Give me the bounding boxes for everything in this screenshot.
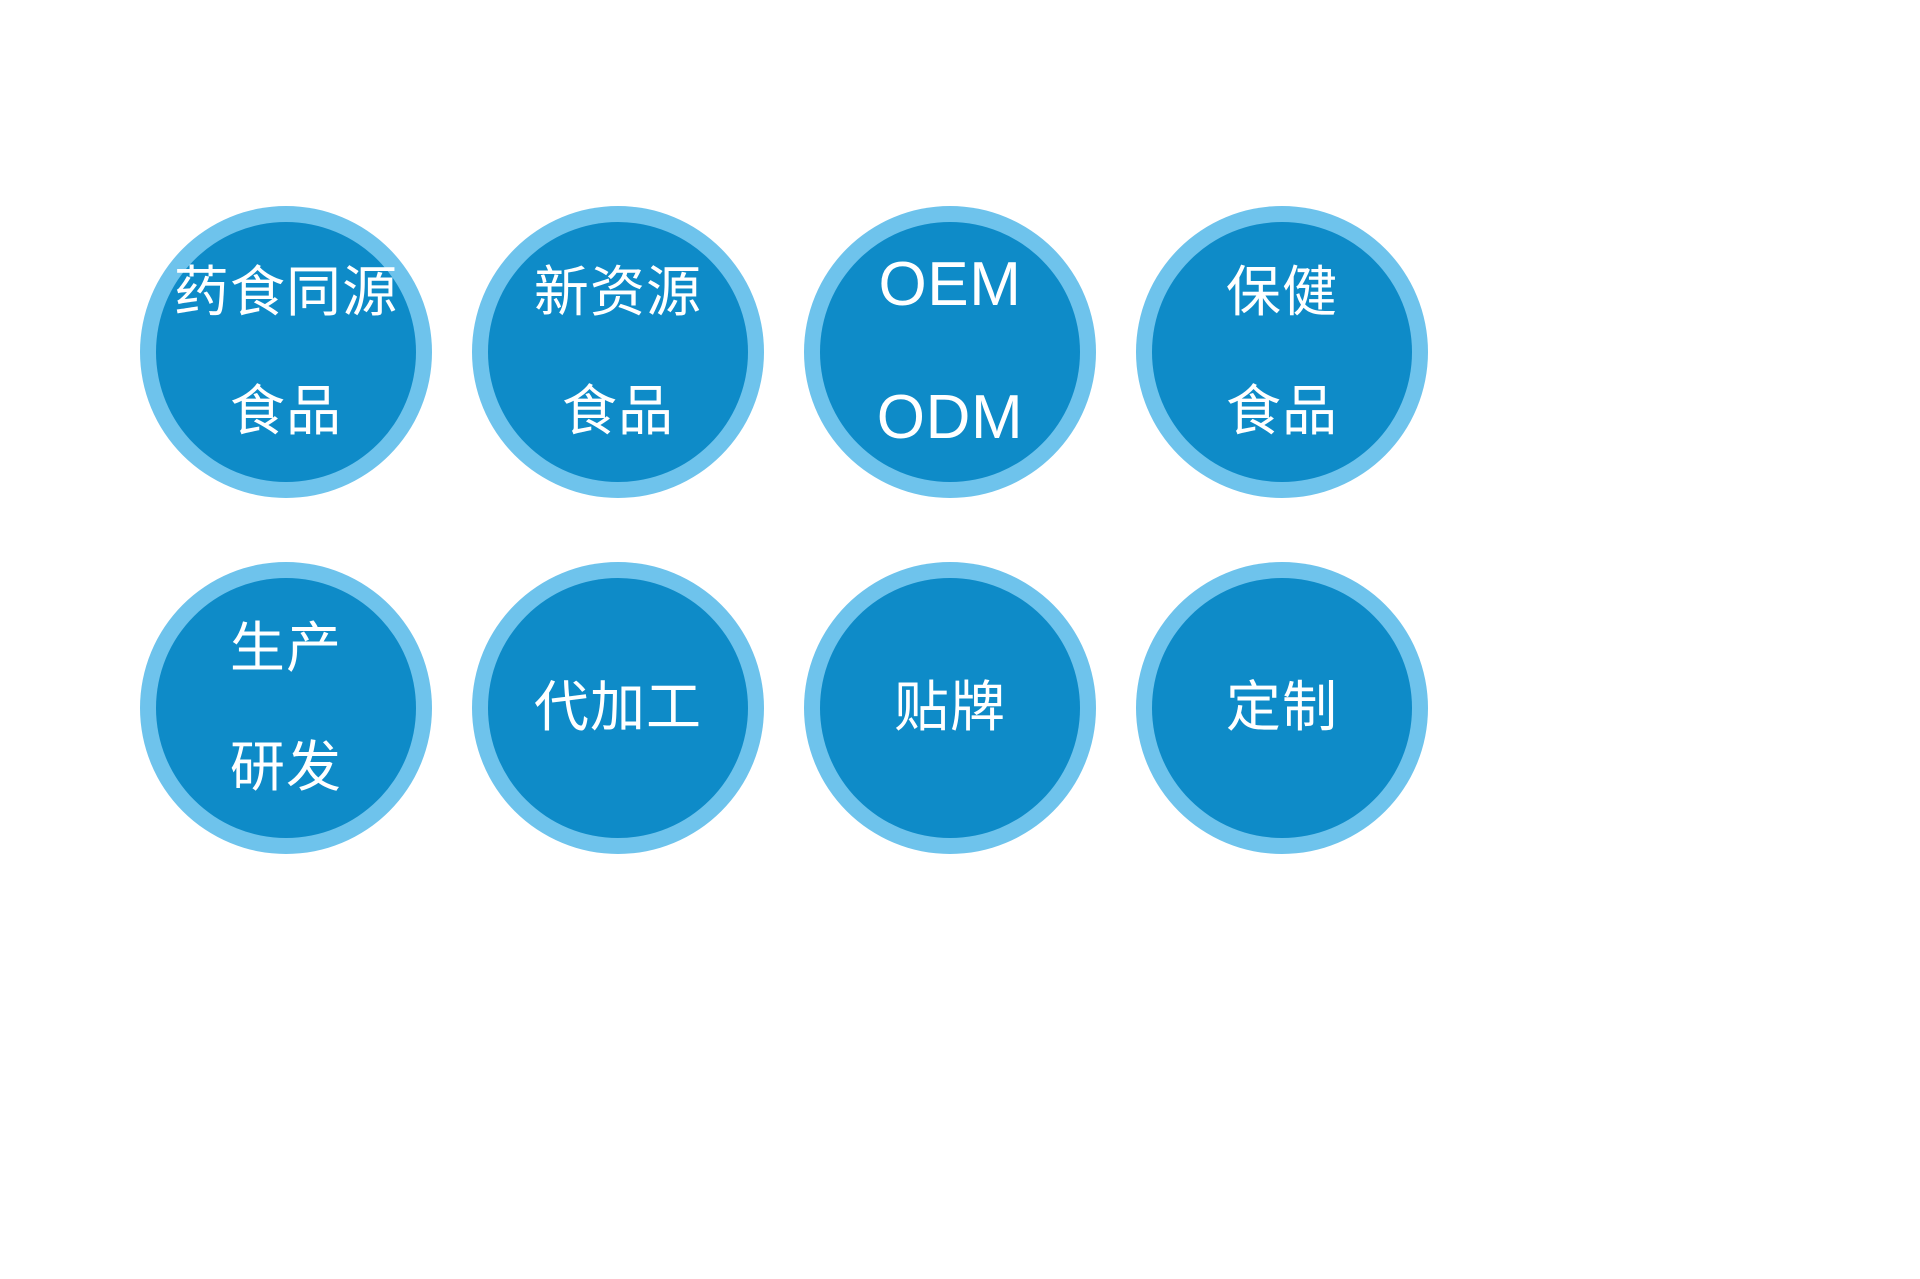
bubble-contract-processing[interactable]: 代加工 (472, 562, 764, 854)
bubble-label: 代加工 (534, 619, 702, 797)
bubble-label-line: 药食同源 (174, 263, 398, 322)
bubble-label: 定制 (1226, 619, 1338, 797)
bubble-health-food[interactable]: 保健 食品 (1136, 206, 1428, 498)
bubble-label: 保健 食品 (1226, 204, 1338, 501)
bubble-label-line: 贴牌 (894, 678, 1006, 737)
bubble-new-resource-food[interactable]: 新资源 食品 (472, 206, 764, 498)
bubble-production-rnd[interactable]: 生产 研发 (140, 562, 432, 854)
bubble-label-line: 定制 (1226, 678, 1338, 737)
bubble-label: 生产 研发 (230, 560, 342, 857)
bubble-label-line: 食品 (1226, 382, 1338, 441)
bubble-label-line: 食品 (534, 382, 702, 441)
bubble-label-line: 保健 (1226, 263, 1338, 322)
bubble-medicine-food-homology[interactable]: 药食同源 食品 (140, 206, 432, 498)
bubble-label: 新资源 食品 (534, 204, 702, 501)
bubble-customization[interactable]: 定制 (1136, 562, 1428, 854)
bubble-label-line: 代加工 (534, 678, 702, 737)
bubble-label-line: OEM (877, 252, 1024, 319)
bubble-private-label[interactable]: 贴牌 (804, 562, 1096, 854)
graphic-canvas: 药食同源 食品 新资源 食品 OEM ODM 保健 食 (0, 0, 1920, 1279)
bubble-label: 药食同源 食品 (174, 204, 398, 501)
bubble-label-line: ODM (877, 385, 1024, 452)
bubble-label-line: 食品 (174, 382, 398, 441)
bubble-label-line: 生产 (230, 619, 342, 678)
bubble-label: OEM ODM (877, 185, 1024, 520)
circle-grid: 药食同源 食品 新资源 食品 OEM ODM 保健 食 (140, 206, 1430, 866)
bubble-label-line: 新资源 (534, 263, 702, 322)
bubble-label-line: 研发 (230, 738, 342, 797)
bubble-label: 贴牌 (894, 619, 1006, 797)
bubble-oem-odm[interactable]: OEM ODM (804, 206, 1096, 498)
